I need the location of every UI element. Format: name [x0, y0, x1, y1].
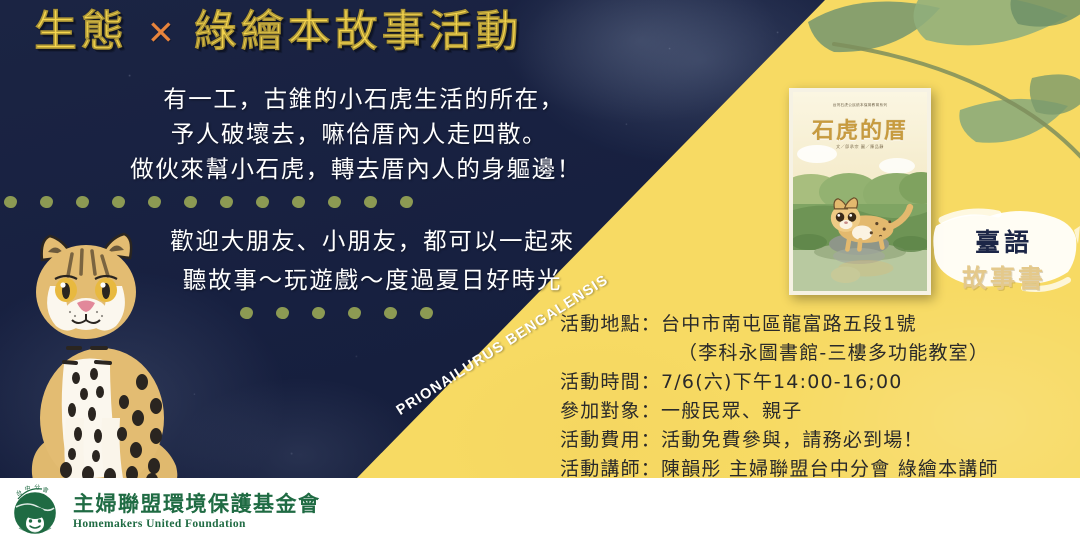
- detail-label: 活動時間：: [560, 371, 661, 393]
- detail-label: 活動講師：: [560, 458, 661, 480]
- svg-text:會: 會: [41, 485, 49, 494]
- stamp-line-1: 臺語: [928, 223, 1080, 259]
- detail-row-location: 活動地點：台中市南屯區龍富路五段1號: [560, 310, 1080, 339]
- stamp-line-2: 故事書: [928, 259, 1080, 295]
- detail-value: 7/6(六)下午14:00-16;00: [661, 371, 903, 393]
- organization-logo: 台 中 分 會 主婦聯盟環境保護基金會 Homemakers United Fo…: [8, 483, 321, 537]
- svg-text:分: 分: [34, 483, 41, 491]
- verse-paragraph: 有一工，古錐的小石虎生活的所在， 予人破壞去，嘛佮厝內人走四散。 做伙來幫小石虎…: [46, 82, 666, 187]
- dotted-divider-bottom: [240, 307, 433, 319]
- leopard-cat-illustration: [6, 222, 196, 487]
- dotted-divider-top: [4, 196, 413, 208]
- event-details: 活動地點：台中市南屯區龍富路五段1號 （李科永圖書館-三樓多功能教室） 活動時間…: [560, 310, 1080, 484]
- poster-root: 生態 ✕ 綠繪本故事活動 有一工，古錐的小石虎生活的所在， 予人破壞去，嘛佮厝內…: [0, 0, 1080, 540]
- poster-title: 生態 ✕ 綠繪本故事活動: [34, 11, 523, 54]
- org-name-english: Homemakers United Foundation: [73, 517, 321, 532]
- detail-label: 活動費用：: [560, 429, 661, 451]
- verse-line-1: 有一工，古錐的小石虎生活的所在，: [46, 82, 666, 117]
- cross-icon: ✕: [144, 16, 178, 49]
- book-title: 石虎的厝: [793, 113, 927, 145]
- book-cover: 台灣石虎公民繪本保育教育系列 石虎的厝 文／邱承宗 圖／陳品靜: [789, 88, 931, 295]
- svg-text:中: 中: [24, 484, 31, 493]
- book-subtitle: 台灣石虎公民繪本保育教育系列: [793, 103, 927, 108]
- title-part-1: 生態: [34, 11, 128, 54]
- globe-child-logo-icon: 台 中 分 會: [8, 483, 66, 537]
- svg-text:台: 台: [15, 488, 24, 498]
- book-authors: 文／邱承宗 圖／陳品靜: [793, 144, 927, 150]
- detail-row-time: 活動時間：7/6(六)下午14:00-16;00: [560, 368, 1080, 397]
- detail-value: 一般民眾、親子: [661, 400, 802, 422]
- detail-value: 陳韻彤 主婦聯盟台中分會 綠繪本講師: [661, 458, 999, 480]
- detail-value: （李科永圖書館-三樓多功能教室）: [678, 342, 989, 364]
- detail-label: 活動地點：: [560, 313, 661, 335]
- footer-bar: 台 中 分 會 主婦聯盟環境保護基金會 Homemakers United Fo…: [0, 478, 1080, 540]
- detail-label: 參加對象：: [560, 400, 661, 422]
- title-part-2: 綠繪本故事活動: [194, 11, 523, 54]
- detail-value: 台中市南屯區龍富路五段1號: [661, 313, 917, 335]
- verse-line-3: 做伙來幫小石虎，轉去厝內人的身軀邊！: [46, 152, 666, 187]
- taiwanese-storybook-stamp: 臺語 故事書: [928, 196, 1080, 312]
- detail-row-fee: 活動費用：活動免費參與，請務必到場！: [560, 426, 1080, 455]
- detail-value: 活動免費參與，請務必到場！: [661, 429, 924, 451]
- verse-line-2: 予人破壞去，嘛佮厝內人走四散。: [46, 117, 666, 152]
- org-name-chinese: 主婦聯盟環境保護基金會: [73, 492, 321, 516]
- detail-row-audience: 參加對象：一般民眾、親子: [560, 397, 1080, 426]
- detail-row-venue: （李科永圖書館-三樓多功能教室）: [560, 339, 1080, 368]
